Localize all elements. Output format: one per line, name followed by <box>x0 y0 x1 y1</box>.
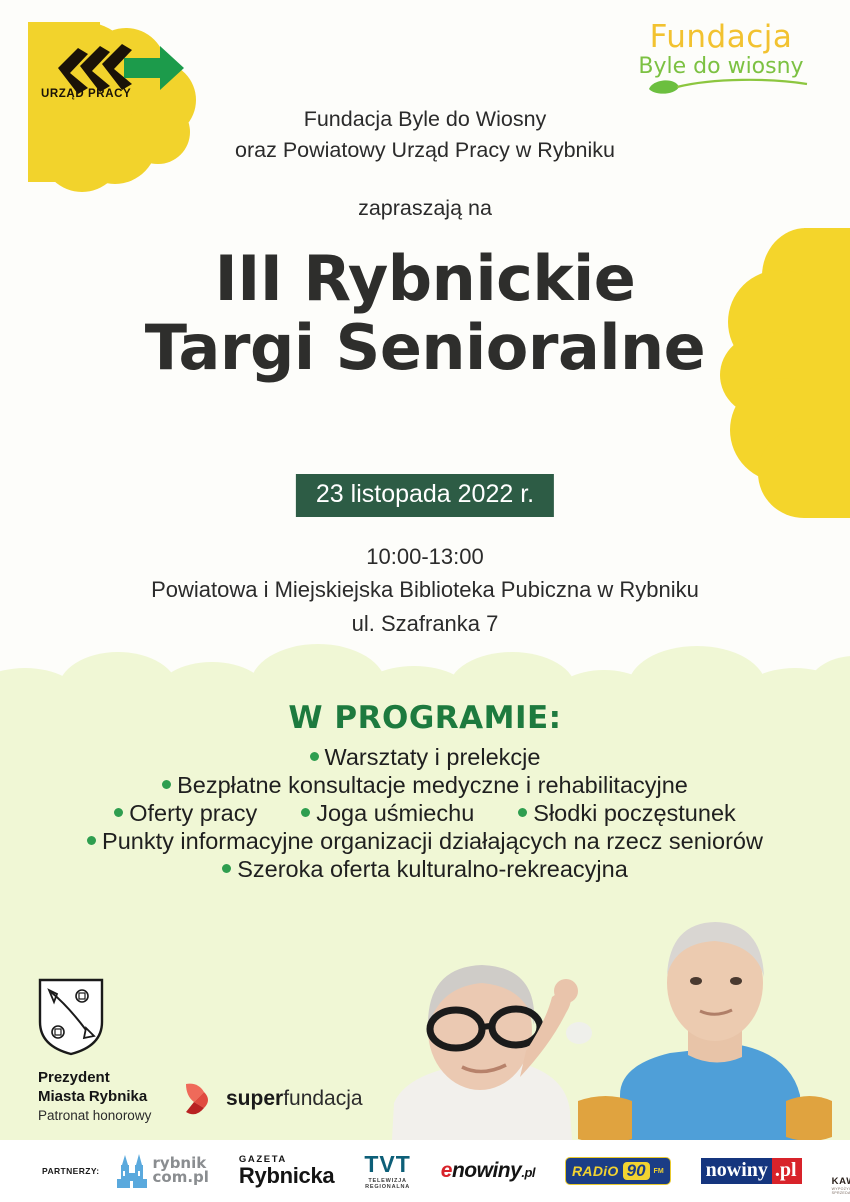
radio-fm-label: FM <box>654 1168 664 1175</box>
event-address: ul. Szafranka 7 <box>0 607 850 640</box>
list-item-label: Słodki poczęstunek <box>533 800 735 827</box>
patron-name: Prezydent Miasta Rybnika <box>38 1069 151 1106</box>
page-title: III Rybnickie Targi Senioralne <box>0 244 850 383</box>
programme-row: Szeroka oferta kulturalno-rekreacyjna <box>0 856 850 883</box>
list-item-label: Szeroka oferta kulturalno-rekreacyjna <box>237 856 628 883</box>
chevrons-icon <box>58 44 132 94</box>
radio-label: RADiO <box>572 1163 619 1179</box>
date-badge: 23 listopada 2022 r. <box>296 474 554 517</box>
fundacja-wordmark: Fundacja <box>626 22 816 53</box>
nowiny-label: nowiny <box>701 1158 772 1183</box>
senior-couple-photo <box>370 905 850 1140</box>
event-details: 10:00-13:00 Powiatowa i Miejskiejska Bib… <box>0 540 850 640</box>
church-silhouette-icon <box>114 1151 150 1191</box>
event-venue: Powiatowa i Miejskiejska Biblioteka Pubi… <box>0 573 850 606</box>
title-line-1: III Rybnickie <box>0 244 850 313</box>
poster-root: URZĄD PRACY Fundacja Byle do wiosny Fund… <box>0 0 850 1202</box>
programme-row: Bezpłatne konsultacje medyczne i rehabil… <box>0 772 850 799</box>
tvt-sublabel: TELEWIZJA REGIONALNA <box>364 1178 410 1190</box>
title-line-2: Targi Senioralne <box>0 313 850 382</box>
list-item: Oferty pracy <box>114 800 257 827</box>
enowiny-suffix: .pl <box>521 1165 535 1180</box>
tvt-label: TVT <box>364 1153 410 1176</box>
programme-row: Punkty informacyjne organizacji działają… <box>0 828 850 855</box>
list-item-label: Punkty informacyjne organizacji działają… <box>102 828 763 855</box>
partner-logo-kawomatyka[interactable]: KAWOMATYKA WYPOŻYCZALNIA • SERWIS • SPRZ… <box>832 1147 850 1195</box>
partner-logo-radio-90-fm[interactable]: RADiO 90 FM <box>565 1157 671 1185</box>
urzad-pracy-label: URZĄD PRACY <box>41 88 131 100</box>
honorary-patron-block: Prezydent Miasta Rybnika Patronat honoro… <box>38 978 151 1123</box>
list-item: Słodki poczęstunek <box>518 800 735 827</box>
partner-logo-enowiny-pl[interactable]: enowiny.pl <box>441 1159 535 1183</box>
radio-number: 90 <box>623 1162 650 1180</box>
list-item: Joga uśmiechu <box>301 800 474 827</box>
patron-name-line-1: Prezydent <box>38 1069 151 1088</box>
partners-bar: PARTNERZY: rybnik com. <box>0 1140 850 1202</box>
partner-logo-rybnik-com-pl[interactable]: rybnik com.pl <box>114 1151 209 1191</box>
intro-line-2: oraz Powiatowy Urząd Pracy w Rybniku <box>0 135 850 166</box>
list-item: Bezpłatne konsultacje medyczne i rehabil… <box>162 772 688 799</box>
list-item: Punkty informacyjne organizacji działają… <box>87 828 763 855</box>
bullet-icon <box>87 836 96 845</box>
green-leaf-swoosh-icon <box>631 75 811 95</box>
superfundacja-wordmark: superfundacja <box>226 1087 363 1111</box>
kawomatyka-sublabel: WYPOŻYCZALNIA • SERWIS • SPRZEDAŻ <box>832 1187 850 1195</box>
bullet-icon <box>222 864 231 873</box>
programme-row: Warsztaty i prelekcje <box>0 744 850 771</box>
partners-label: PARTNERZY: <box>42 1166 100 1176</box>
bullet-icon <box>114 808 123 817</box>
bullet-icon <box>310 752 319 761</box>
list-item-label: Bezpłatne konsultacje medyczne i rehabil… <box>177 772 688 799</box>
rybnik-line-2: com.pl <box>153 1171 209 1185</box>
superfundacja-rest: fundacja <box>283 1087 362 1110</box>
intro-text: Fundacja Byle do Wiosny oraz Powiatowy U… <box>0 104 850 166</box>
patron-role: Patronat honorowy <box>38 1108 151 1123</box>
rybnicka-label: Rybnicka <box>239 1165 334 1187</box>
bullet-icon <box>518 808 527 817</box>
partner-logo-gazeta-rybnicka[interactable]: GAZETA Rybnicka <box>239 1155 334 1187</box>
enowiny-e: e <box>441 1159 452 1182</box>
fundacja-byle-do-wiosny-logo: Fundacja Byle do wiosny <box>626 22 816 102</box>
programme-section: W PROGRAMIE: Warsztaty i prelekcje Bezpł… <box>0 700 850 884</box>
partner-logo-nowiny-pl[interactable]: nowiny.pl <box>701 1158 802 1183</box>
list-item-label: Warsztaty i prelekcje <box>325 744 541 771</box>
invite-text: zapraszają na <box>0 196 850 221</box>
patron-name-line-2: Miasta Rybnika <box>38 1088 151 1107</box>
programme-heading: W PROGRAMIE: <box>0 700 850 736</box>
red-arrow-ribbon-icon <box>182 1080 216 1118</box>
list-item: Szeroka oferta kulturalno-rekreacyjna <box>222 856 628 883</box>
partner-logo-tvt[interactable]: TVT TELEWIZJA REGIONALNA <box>364 1153 410 1190</box>
programme-row: Oferty pracy Joga uśmiechu Słodki poczęs… <box>0 800 850 827</box>
list-item: Warsztaty i prelekcje <box>310 744 541 771</box>
superfundacja-bold: super <box>226 1087 283 1110</box>
superfundacja-logo: superfundacja <box>182 1080 363 1118</box>
nowiny-suffix: .pl <box>772 1158 802 1183</box>
green-arrow-icon <box>124 46 184 90</box>
bullet-icon <box>162 780 171 789</box>
enowiny-name: nowiny <box>452 1159 521 1182</box>
rybnik-coat-of-arms-fish-icon <box>38 978 104 1056</box>
event-time: 10:00-13:00 <box>0 540 850 573</box>
bullet-icon <box>301 808 310 817</box>
list-item-label: Oferty pracy <box>129 800 257 827</box>
list-item-label: Joga uśmiechu <box>316 800 474 827</box>
kawomatyka-label: KAWOMATYKA <box>832 1176 850 1187</box>
